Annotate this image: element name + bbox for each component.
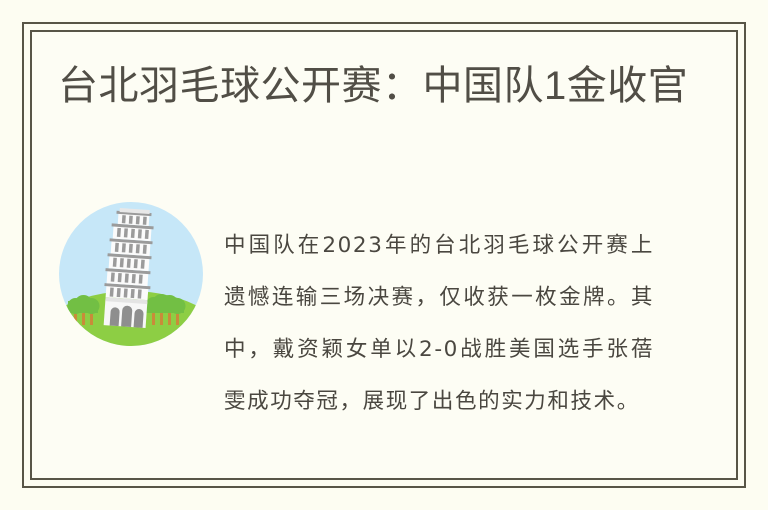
card-content: 台北羽毛球公开赛：中国队1金收官 [30, 30, 738, 480]
article-body-row: 中国队在2023年的台北羽毛球公开赛上遗憾连输三场决赛，仅收获一枚金牌。其中，戴… [58, 198, 708, 428]
article-title: 台北羽毛球公开赛：中国队1金收官 [58, 58, 698, 114]
leaning-tower-of-pisa-icon [58, 201, 204, 347]
article-card: 台北羽毛球公开赛：中国队1金收官 [0, 0, 768, 510]
article-body-text: 中国队在2023年的台北羽毛球公开赛上遗憾连输三场决赛，仅收获一枚金牌。其中，戴… [224, 198, 654, 428]
